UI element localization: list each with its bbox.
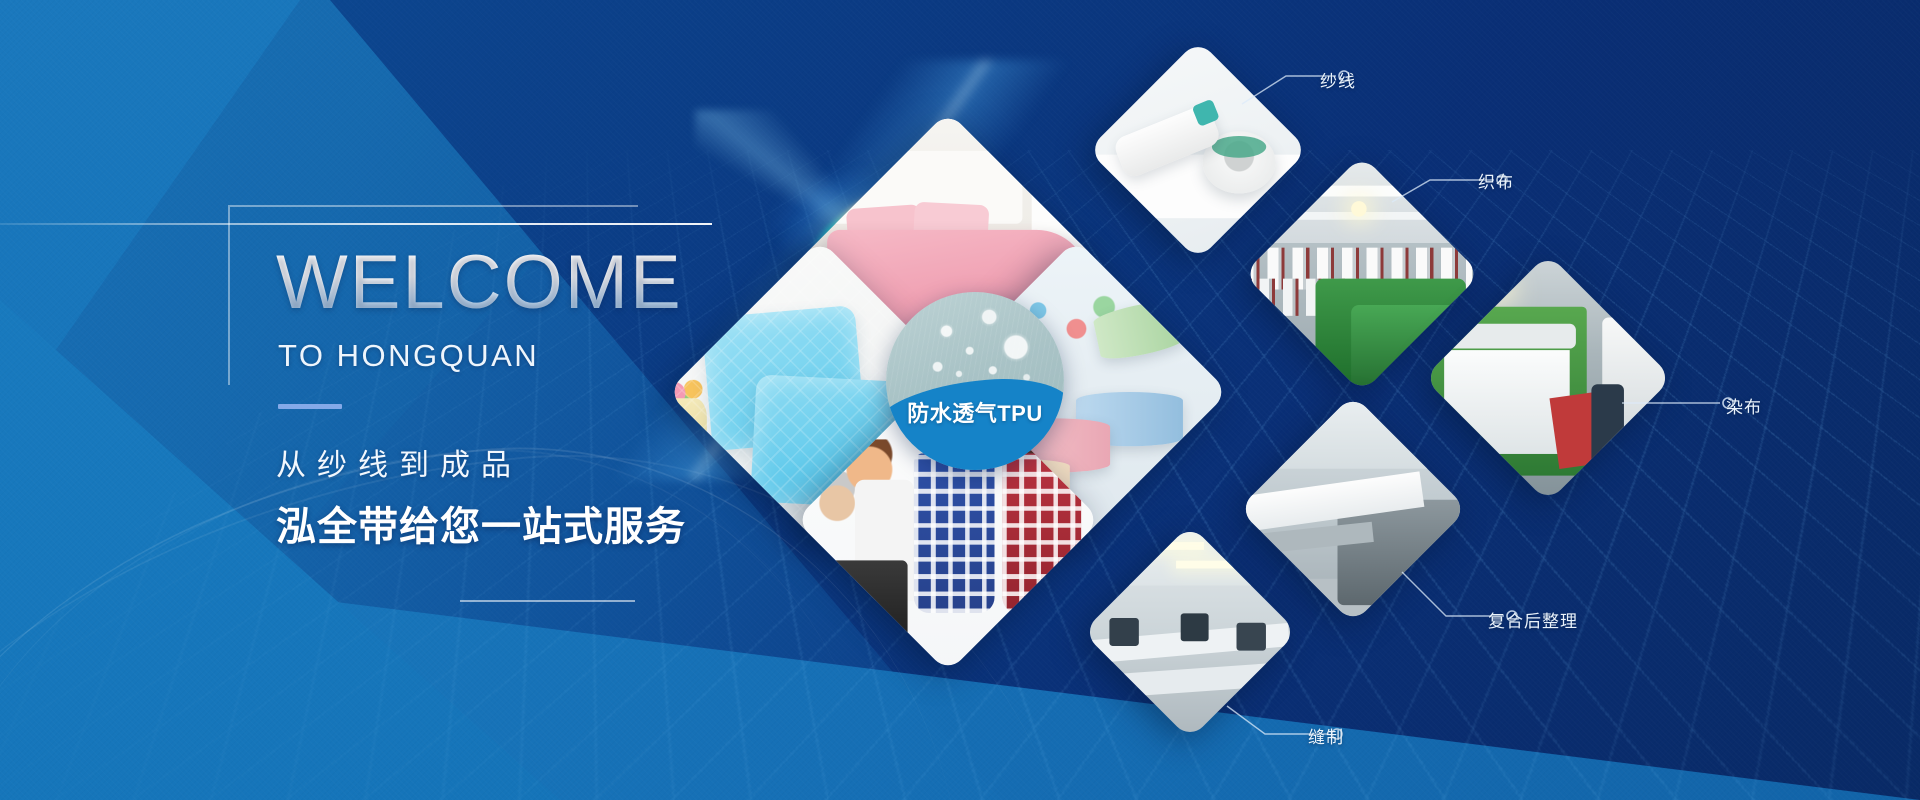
- page-title: WELCOME: [276, 245, 683, 321]
- process-label-yarn: 纱线: [1320, 67, 1356, 92]
- badge-label: 防水透气TPU: [886, 396, 1064, 428]
- process-label-sewing: 缝制: [1308, 723, 1344, 748]
- waterproof-badge: 防水透气TPU: [886, 292, 1064, 470]
- process-label-laminating: 复合后整理: [1488, 607, 1578, 632]
- process-label-dyeing: 染布: [1726, 393, 1762, 418]
- headline-cn: 泓全带给您一站式服务: [276, 494, 686, 552]
- process-label-weaving: 织布: [1478, 168, 1514, 193]
- tagline: 从纱线到成品: [276, 440, 522, 484]
- brand-subtitle: TO HONGQUAN: [278, 338, 539, 374]
- bottom-divider: [460, 600, 635, 602]
- hero-banner: WELCOME TO HONGQUAN 从纱线到成品 泓全带给您一站式服务: [0, 0, 1920, 800]
- accent-divider: [278, 404, 342, 409]
